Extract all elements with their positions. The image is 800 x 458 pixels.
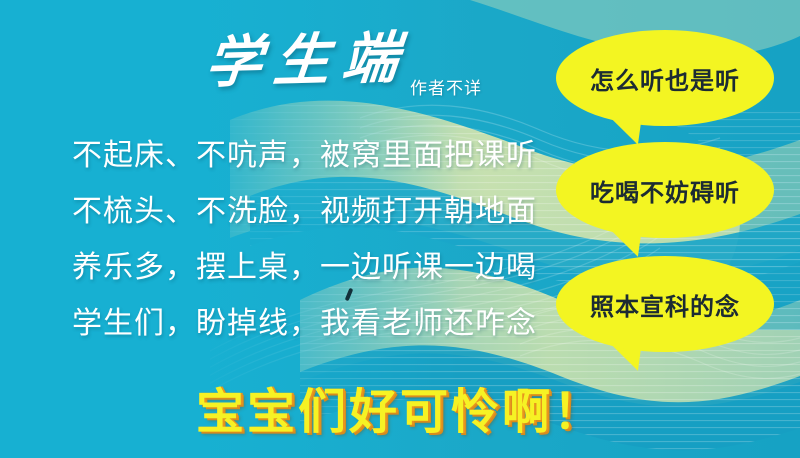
author-credit: 作者不详 bbox=[410, 74, 482, 99]
speech-bubble-text: 吃喝不妨碍听 bbox=[590, 173, 740, 208]
verse-line-1: 不起床、不吭声，被窝里面把课听 bbox=[72, 128, 572, 184]
speech-bubble-text: 照本宣科的念 bbox=[590, 287, 740, 322]
speech-bubble-3: 照本宣科的念 bbox=[556, 256, 774, 352]
speech-bubble-body: 照本宣科的念 bbox=[556, 256, 774, 352]
speech-bubble-body: 怎么听也是听 bbox=[556, 30, 774, 126]
page-title: 学生端 bbox=[202, 13, 414, 99]
speech-bubble-1: 怎么听也是听 bbox=[556, 30, 774, 126]
title-block: 学生端 作者不详 bbox=[210, 18, 540, 100]
speech-bubble-body: 吃喝不妨碍听 bbox=[556, 142, 774, 238]
verse-block: 不起床、不吭声，被窝里面把课听 不梳头、不洗脸，视频打开朝地面 养乐多，摆上桌，… bbox=[72, 128, 572, 352]
speech-bubble-2: 吃喝不妨碍听 bbox=[556, 142, 774, 238]
speech-bubble-text: 怎么听也是听 bbox=[590, 61, 740, 96]
bottom-headline: 宝宝们好可怜啊！ bbox=[0, 372, 800, 442]
verse-line-4: 学生们，盼掉线，我看老师还咋念 bbox=[72, 296, 572, 352]
poster-canvas: 学生端 作者不详 不起床、不吭声，被窝里面把课听 不梳头、不洗脸，视频打开朝地面… bbox=[0, 0, 800, 458]
verse-line-2: 不梳头、不洗脸，视频打开朝地面 bbox=[72, 184, 572, 240]
verse-line-3: 养乐多，摆上桌，一边听课一边喝 bbox=[72, 240, 572, 296]
